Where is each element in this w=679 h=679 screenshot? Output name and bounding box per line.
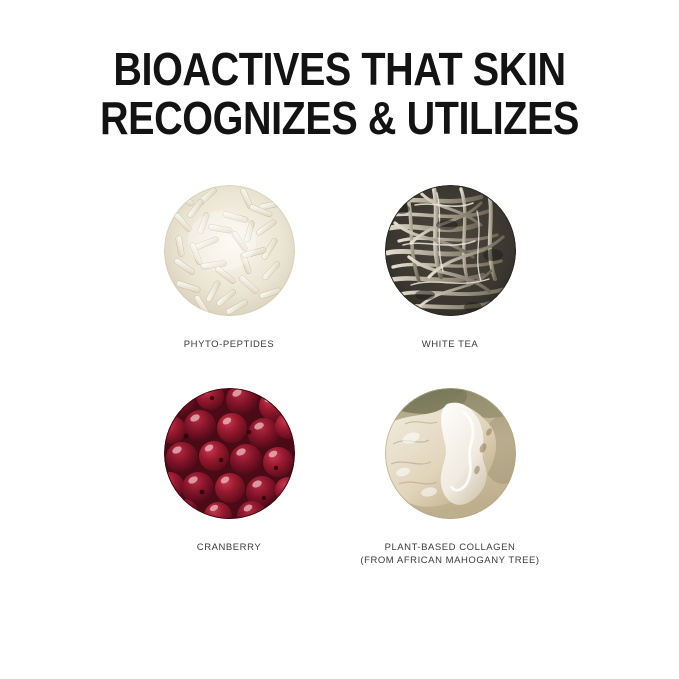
ingredient-caption: PLANT-BASED COLLAGEN (FROM AFRICAN MAHOG… [360, 541, 539, 568]
ingredient-row-1: PHYTO-PEPTIDES [0, 185, 679, 352]
ingredient-label: PLANT-BASED COLLAGEN [385, 542, 516, 553]
title-line-1: BIOACTIVES THAT SKIN [48, 46, 632, 92]
ingredient-row-2: CRANBERRY [0, 388, 679, 568]
ingredient-caption: CRANBERRY [197, 541, 261, 555]
white-tea-leaves-icon [385, 185, 516, 316]
ingredient-cell-phyto-peptides: PHYTO-PEPTIDES [119, 185, 340, 352]
ingredient-caption: WHITE TEA [422, 338, 479, 352]
ingredient-label: WHITE TEA [422, 339, 479, 350]
page-title: BIOACTIVES THAT SKIN RECOGNIZES & UTILIZ… [0, 46, 679, 141]
ingredient-sublabel: (FROM AFRICAN MAHOGANY TREE) [360, 554, 539, 568]
title-line-2: RECOGNIZES & UTILIZES [48, 95, 632, 141]
ingredient-cell-white-tea: WHITE TEA [340, 185, 561, 352]
ingredient-grid: PHYTO-PEPTIDES [0, 185, 679, 568]
poster-canvas: BIOACTIVES THAT SKIN RECOGNIZES & UTILIZ… [0, 0, 679, 679]
ingredient-cell-plant-based-collagen: PLANT-BASED COLLAGEN (FROM AFRICAN MAHOG… [340, 388, 561, 568]
ingredient-cell-cranberry: CRANBERRY [119, 388, 340, 555]
ingredient-label: CRANBERRY [197, 542, 261, 553]
cranberries-icon [164, 388, 295, 519]
ingredient-caption: PHYTO-PEPTIDES [184, 338, 274, 352]
ingredient-label: PHYTO-PEPTIDES [184, 339, 274, 350]
plant-collagen-resin-icon [385, 388, 516, 519]
rice-grains-icon [164, 185, 295, 316]
